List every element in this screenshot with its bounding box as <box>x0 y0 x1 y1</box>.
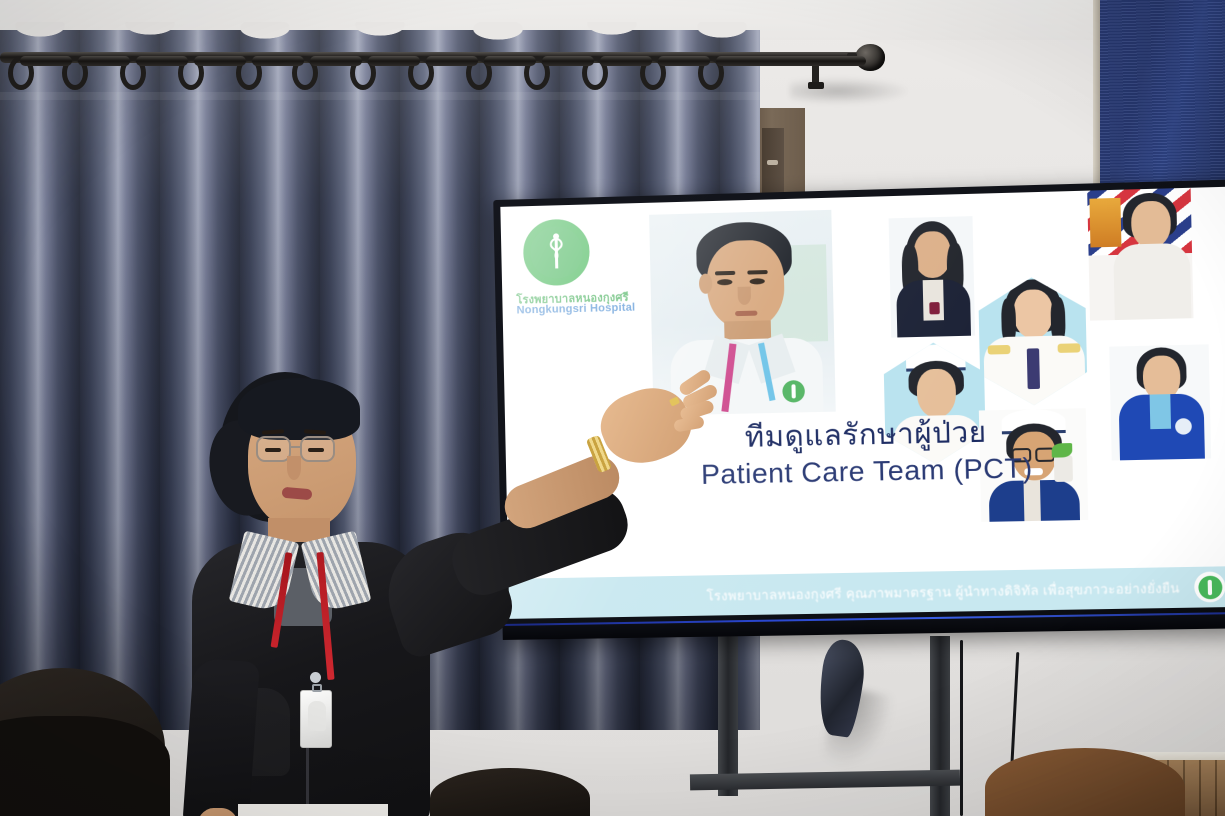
curtain-rod-segment <box>542 56 594 66</box>
photo-officer-center <box>978 276 1088 406</box>
curtain-rod-segment <box>658 56 710 66</box>
presenter-left-arm <box>182 658 260 816</box>
presenter-skirt <box>238 804 388 816</box>
presenter-nose <box>287 456 301 480</box>
door-handle <box>767 160 778 165</box>
photo-woman-suit <box>889 216 976 338</box>
power-cable <box>960 640 963 816</box>
photo-woman-flag <box>1087 188 1193 321</box>
photo-scene: โรงพยาบาลหนองกุงศรี Nongkungsri Hospital <box>0 0 1225 816</box>
photo-man-center <box>649 210 836 416</box>
eyeglasses-bridge <box>291 446 302 448</box>
lanyard-clip <box>310 672 321 683</box>
curtain-top-edge <box>0 22 760 52</box>
hospital-name-english: Nongkungsri Hospital <box>516 302 635 317</box>
wall-panel <box>1100 0 1225 196</box>
presenter-eye-left <box>265 448 281 452</box>
curtain-rod-segment <box>20 56 72 66</box>
curtain-rod-segment <box>310 56 362 66</box>
tv-stand-post-left <box>718 636 738 796</box>
curtain-rod-segment <box>194 56 246 66</box>
curtain-rod-segment <box>716 56 866 66</box>
presenter-hair-front <box>238 378 360 440</box>
audience-hair-left <box>0 716 170 816</box>
curtain-rod-segment <box>600 56 652 66</box>
hospital-logo-icon <box>523 218 591 286</box>
curtain-rod-segment <box>78 56 130 66</box>
slide-footer-text: โรงพยาบาลหนองกุงศรี คุณภาพมาตรฐาน ผู้นำท… <box>706 577 1180 606</box>
id-badge <box>300 690 332 748</box>
curtain-rod-segment <box>426 56 478 66</box>
presenter-eye-right <box>308 448 324 452</box>
curtain-rod-segment <box>484 56 536 66</box>
curtain-rod-segment <box>368 56 420 66</box>
caduceus-icon <box>547 232 566 271</box>
curtain-hem <box>0 92 760 100</box>
hospital-seal-icon <box>1194 571 1225 602</box>
tv-stand-post-right <box>930 636 950 816</box>
presenter <box>150 360 630 816</box>
curtain-rod-segment <box>136 56 188 66</box>
curtain-rod-segment <box>252 56 304 66</box>
